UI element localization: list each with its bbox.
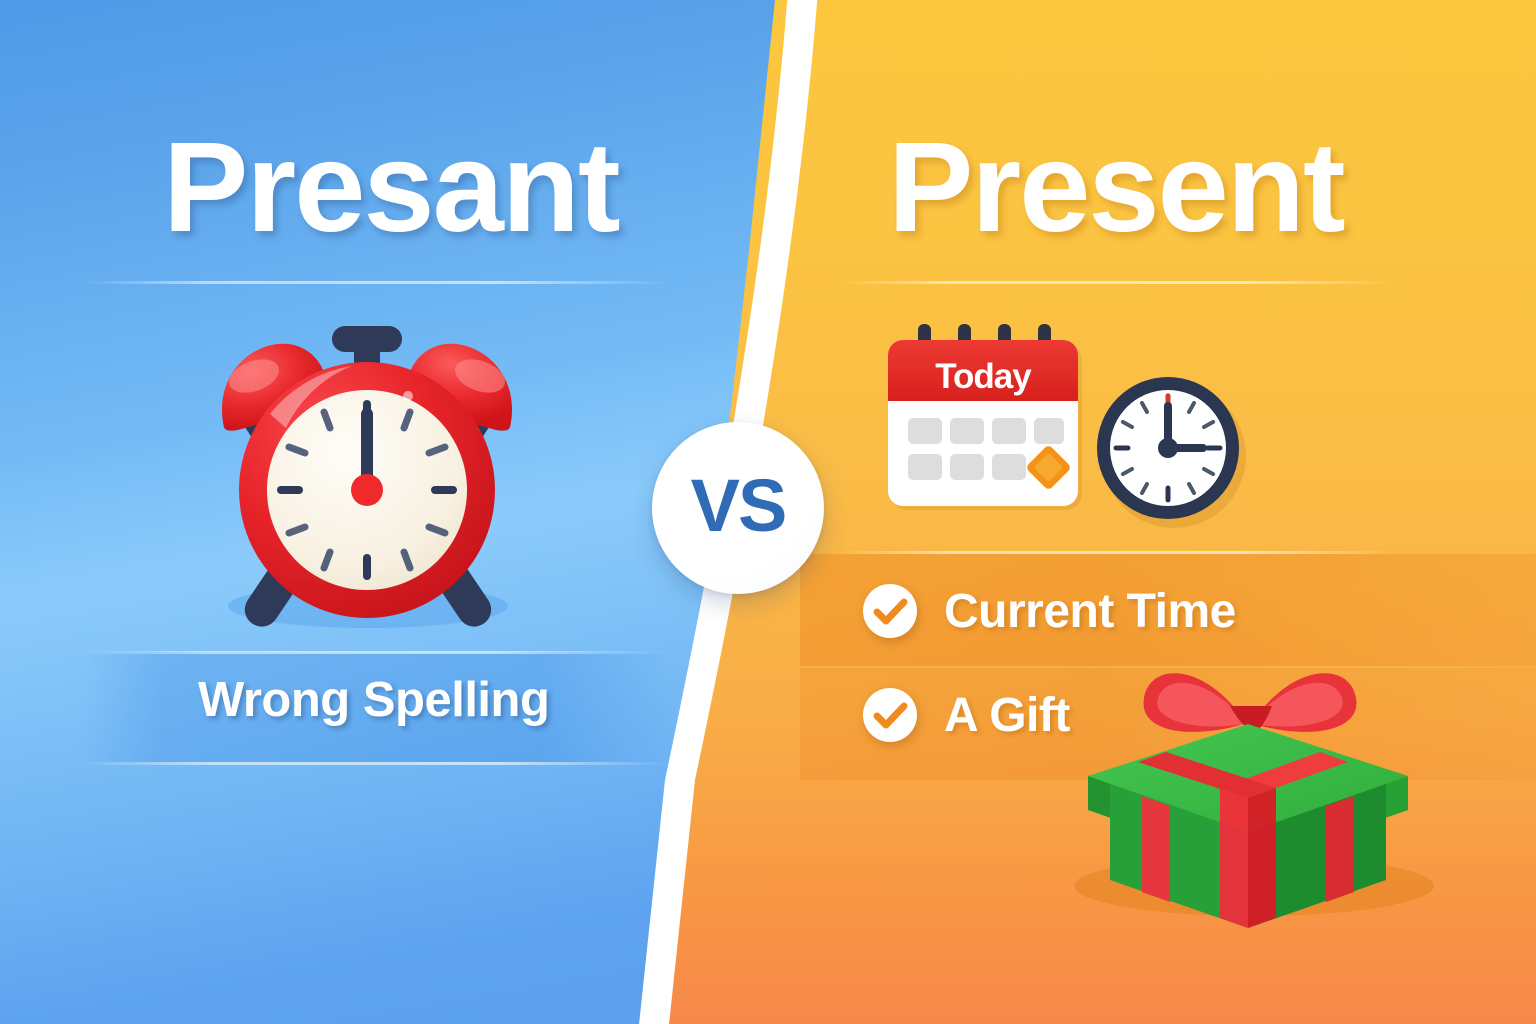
check-circle-icon <box>862 583 918 639</box>
wall-clock-icon <box>1090 370 1250 530</box>
vs-badge: VS <box>652 422 824 594</box>
gift-box-icon <box>1058 628 1458 928</box>
svg-text:Today: Today <box>935 357 1032 396</box>
check-circle-icon <box>862 687 918 743</box>
right-mid-divider <box>838 551 1398 554</box>
right-title-underline <box>838 281 1398 284</box>
right-title: Present <box>888 124 1344 252</box>
feature-row-a-gift: A Gift <box>862 687 1070 743</box>
vs-label: VS <box>691 469 786 543</box>
left-band-bottom-line <box>82 762 670 765</box>
alarm-clock-icon <box>196 318 536 648</box>
left-subtitle-label: Wrong Spelling <box>198 672 549 728</box>
feature-label: A Gift <box>944 688 1070 743</box>
left-title-underline <box>82 281 670 284</box>
comparison-infographic: Presant Present <box>0 0 1536 1024</box>
left-title: Presant <box>163 124 619 252</box>
calendar-icon: Today <box>880 318 1090 518</box>
left-band-top-line <box>82 651 670 654</box>
